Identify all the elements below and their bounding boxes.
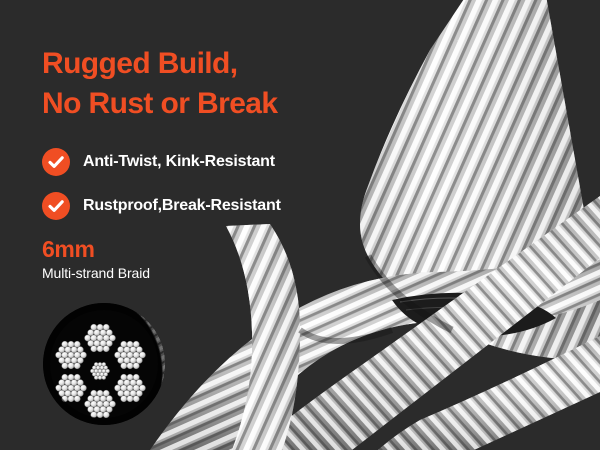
wire-rope-cross-section — [43, 303, 165, 425]
feature-item: Rustproof,Break-Resistant — [42, 192, 281, 220]
check-icon — [42, 192, 70, 220]
headline-line-1: Rugged Build, — [42, 44, 277, 84]
spec-block: 6mm Multi-strand Braid — [42, 236, 150, 281]
product-feature-card: Rugged Build, No Rust or Break Anti-Twis… — [0, 0, 600, 450]
spec-description: Multi-strand Braid — [42, 265, 150, 281]
page-title: Rugged Build, No Rust or Break — [42, 44, 277, 124]
headline-line-2: No Rust or Break — [42, 84, 277, 124]
spec-size: 6mm — [42, 236, 150, 262]
feature-label: Anti-Twist, Kink-Resistant — [83, 153, 275, 171]
content-layer: Rugged Build, No Rust or Break Anti-Twis… — [0, 0, 600, 450]
check-icon — [42, 148, 70, 176]
feature-item: Anti-Twist, Kink-Resistant — [42, 148, 275, 176]
feature-label: Rustproof,Break-Resistant — [83, 197, 281, 215]
